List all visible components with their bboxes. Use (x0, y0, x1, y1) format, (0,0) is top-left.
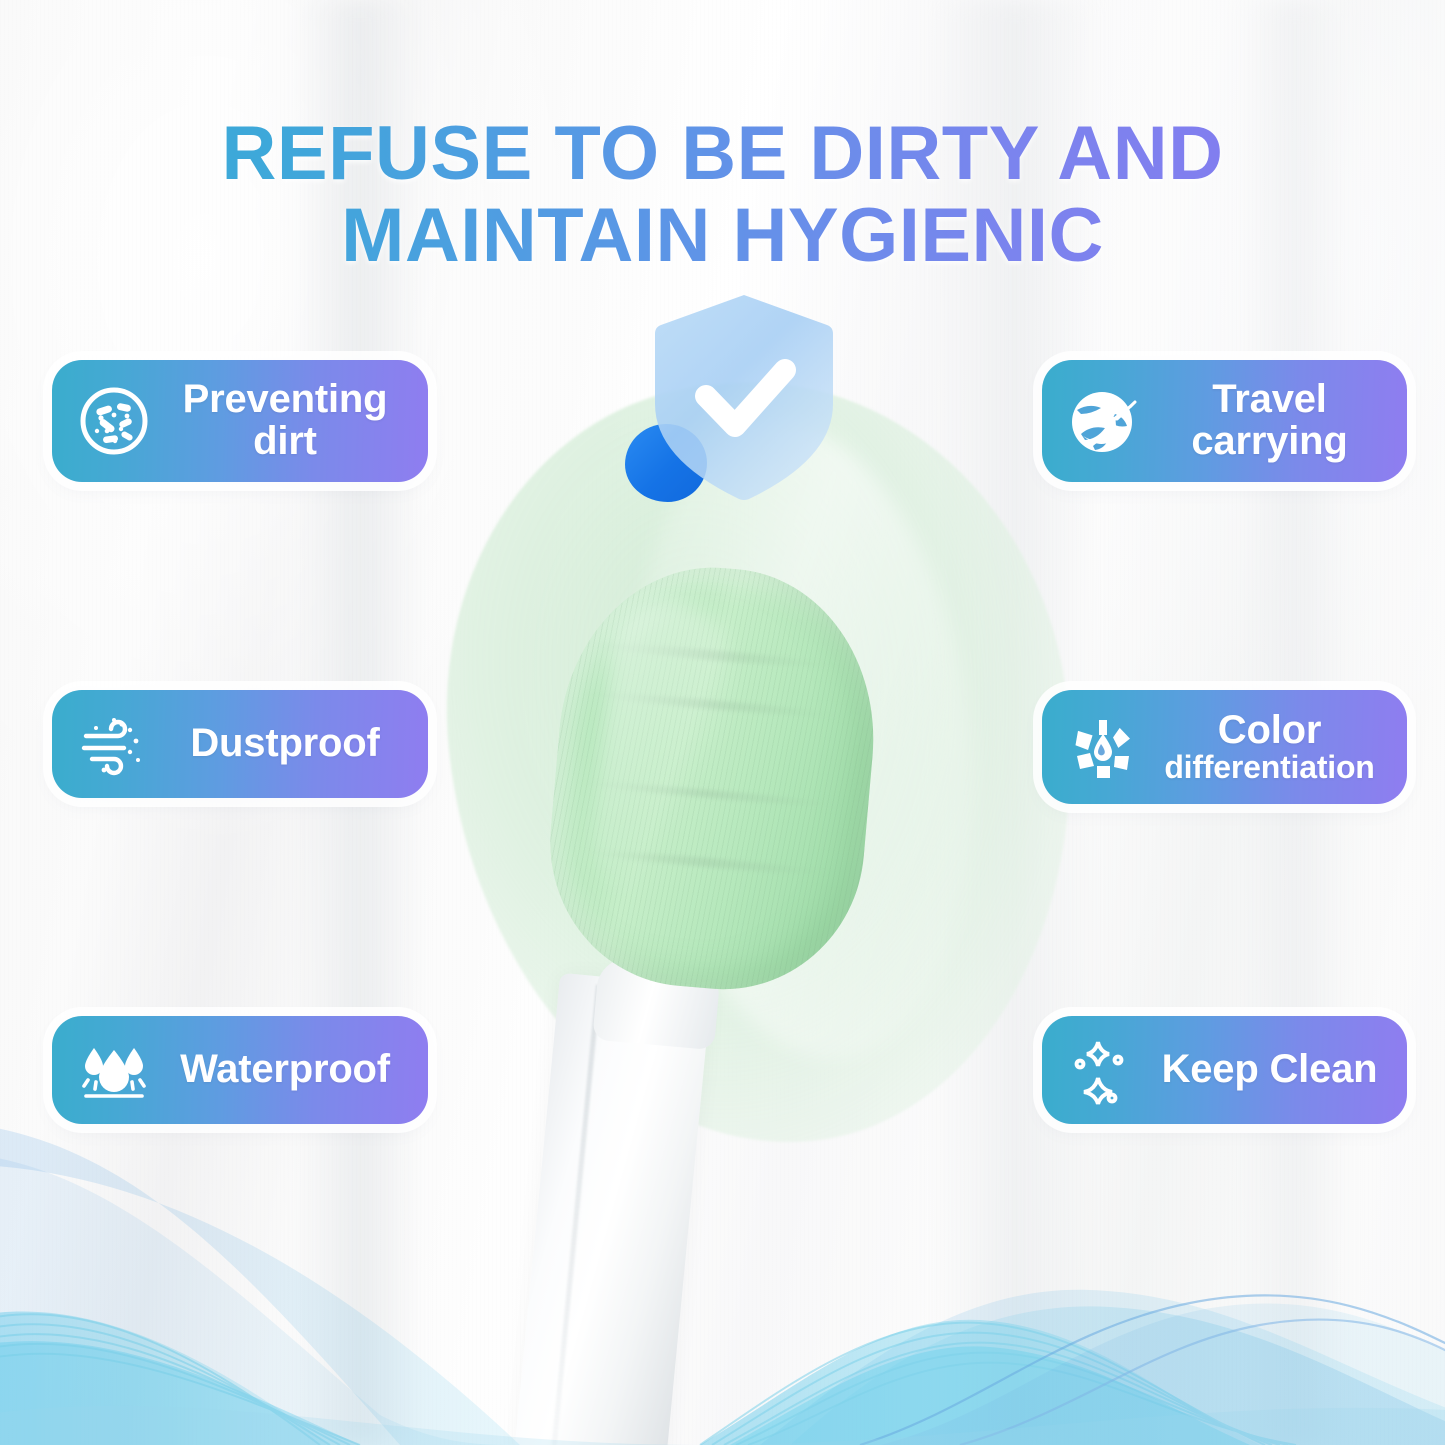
badge-label-preventing-dirt: Preventing dirt (160, 379, 408, 462)
badge-keep-clean[interactable]: Keep Clean (1042, 1016, 1407, 1124)
badge-line2: differentiation (1164, 751, 1374, 784)
globe-airplane-icon (1058, 375, 1150, 467)
badge-line1: Travel (1212, 379, 1326, 421)
badge-label-color-differentiation: Color differentiation (1150, 710, 1387, 785)
badge-label-waterproof: Waterproof (160, 1049, 408, 1091)
badge-label-dustproof: Dustproof (160, 723, 408, 765)
page-title-line2: MAINTAIN HYGIENIC (0, 195, 1445, 277)
badge-line1: Color (1218, 710, 1321, 752)
badge-waterproof[interactable]: Waterproof (52, 1016, 428, 1124)
badge-travel-carrying[interactable]: Travel carrying (1042, 360, 1407, 482)
badge-dustproof[interactable]: Dustproof (52, 690, 428, 798)
badge-line1: Keep Clean (1162, 1049, 1378, 1091)
shield-check-icon (651, 292, 837, 504)
page-title: REFUSE TO BE DIRTY AND MAINTAIN HYGIENIC (0, 113, 1445, 277)
badge-line1: Dustproof (190, 723, 379, 765)
water-droplets-icon (68, 1024, 160, 1116)
wind-dust-icon (68, 698, 160, 790)
germ-circle-icon (68, 375, 160, 467)
badge-line1: Waterproof (180, 1049, 390, 1091)
badge-line2: dirt (253, 421, 317, 463)
page-title-line1: REFUSE TO BE DIRTY AND (222, 111, 1224, 196)
badge-line2: carrying (1191, 421, 1347, 463)
badge-label-keep-clean: Keep Clean (1150, 1049, 1387, 1091)
color-wheel-droplet-icon (1058, 701, 1150, 793)
badge-color-differentiation[interactable]: Color differentiation (1042, 690, 1407, 804)
badge-label-travel-carrying: Travel carrying (1150, 379, 1387, 462)
sparkle-icon (1058, 1024, 1150, 1116)
poster-canvas: REFUSE TO BE DIRTY AND MAINTAIN HYGIENIC (0, 0, 1445, 1445)
badge-preventing-dirt[interactable]: Preventing dirt (52, 360, 428, 482)
badge-line1: Preventing (183, 379, 388, 421)
